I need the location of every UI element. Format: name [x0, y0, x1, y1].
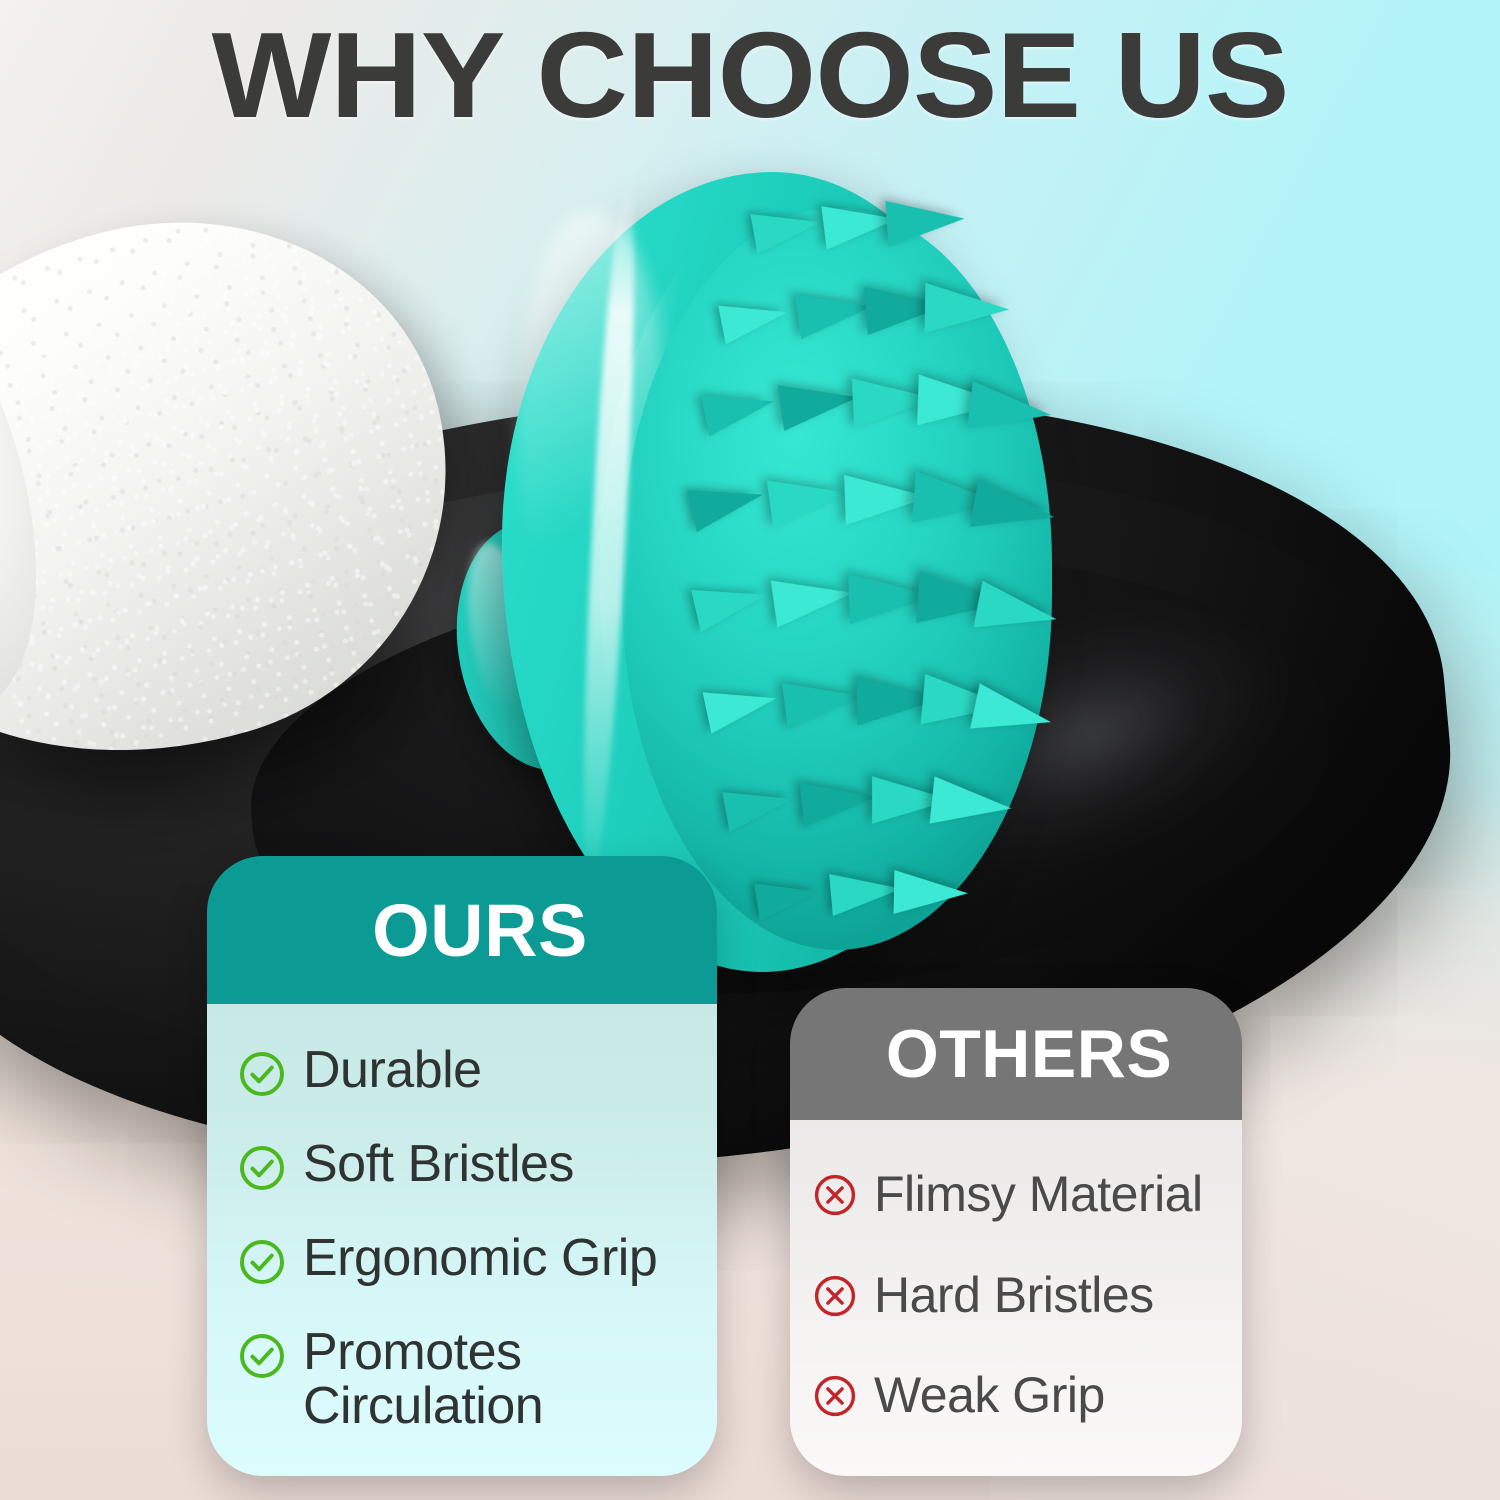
list-item: Flimsy Material: [812, 1168, 1224, 1223]
feature-label: Flimsy Material: [874, 1168, 1203, 1220]
product-bristle: [930, 776, 1014, 832]
x-circle-icon: [812, 1373, 858, 1424]
list-item: Hard Bristles: [812, 1269, 1224, 1324]
page-title: WHY CHOOSE US: [0, 14, 1500, 136]
product-bristle: [799, 774, 879, 827]
check-circle-icon: [237, 1143, 287, 1198]
others-feature-list: Flimsy MaterialHard BristlesWeak Grip: [812, 1142, 1224, 1450]
list-item: Ergonomic Grip: [237, 1231, 693, 1292]
product-bristle: [894, 870, 969, 915]
product-bristle: [794, 284, 875, 339]
product-comparison-image: WHY CHOOSE US OURS DurableSoft BristlesE…: [0, 0, 1500, 1500]
ours-panel: OURS DurableSoft BristlesErgonomic GripP…: [207, 856, 717, 1476]
list-item: Soft Bristles: [237, 1137, 693, 1198]
list-item: Durable: [237, 1043, 693, 1104]
check-circle-icon: [237, 1331, 287, 1386]
others-panel: OTHERS Flimsy MaterialHard BristlesWeak …: [790, 988, 1242, 1476]
ours-feature-list: DurableSoft BristlesErgonomic GripPromot…: [237, 1034, 693, 1442]
ours-panel-body: DurableSoft BristlesErgonomic GripPromot…: [207, 1004, 717, 1476]
feature-label: Ergonomic Grip: [303, 1231, 657, 1285]
x-circle-icon: [812, 1273, 858, 1324]
list-item: Promotes Circulation: [237, 1325, 693, 1433]
feature-label: Promotes Circulation: [303, 1325, 693, 1433]
x-circle-icon: [812, 1172, 858, 1223]
others-panel-body: Flimsy MaterialHard BristlesWeak Grip: [790, 1120, 1242, 1476]
product-bristle: [885, 196, 966, 248]
feature-label: Soft Bristles: [303, 1137, 574, 1191]
check-circle-icon: [237, 1237, 287, 1292]
check-circle-icon: [237, 1049, 287, 1104]
product-bristle: [829, 868, 903, 916]
feature-label: Weak Grip: [874, 1369, 1105, 1421]
feature-label: Hard Bristles: [874, 1269, 1154, 1321]
product-bristle: [782, 673, 866, 729]
list-item: Weak Grip: [812, 1369, 1224, 1424]
ours-panel-title: OURS: [207, 856, 717, 1004]
feature-label: Durable: [303, 1043, 482, 1097]
product-bristle: [924, 283, 1009, 335]
product-bristle: [967, 381, 1054, 439]
others-panel-title: OTHERS: [790, 988, 1242, 1120]
